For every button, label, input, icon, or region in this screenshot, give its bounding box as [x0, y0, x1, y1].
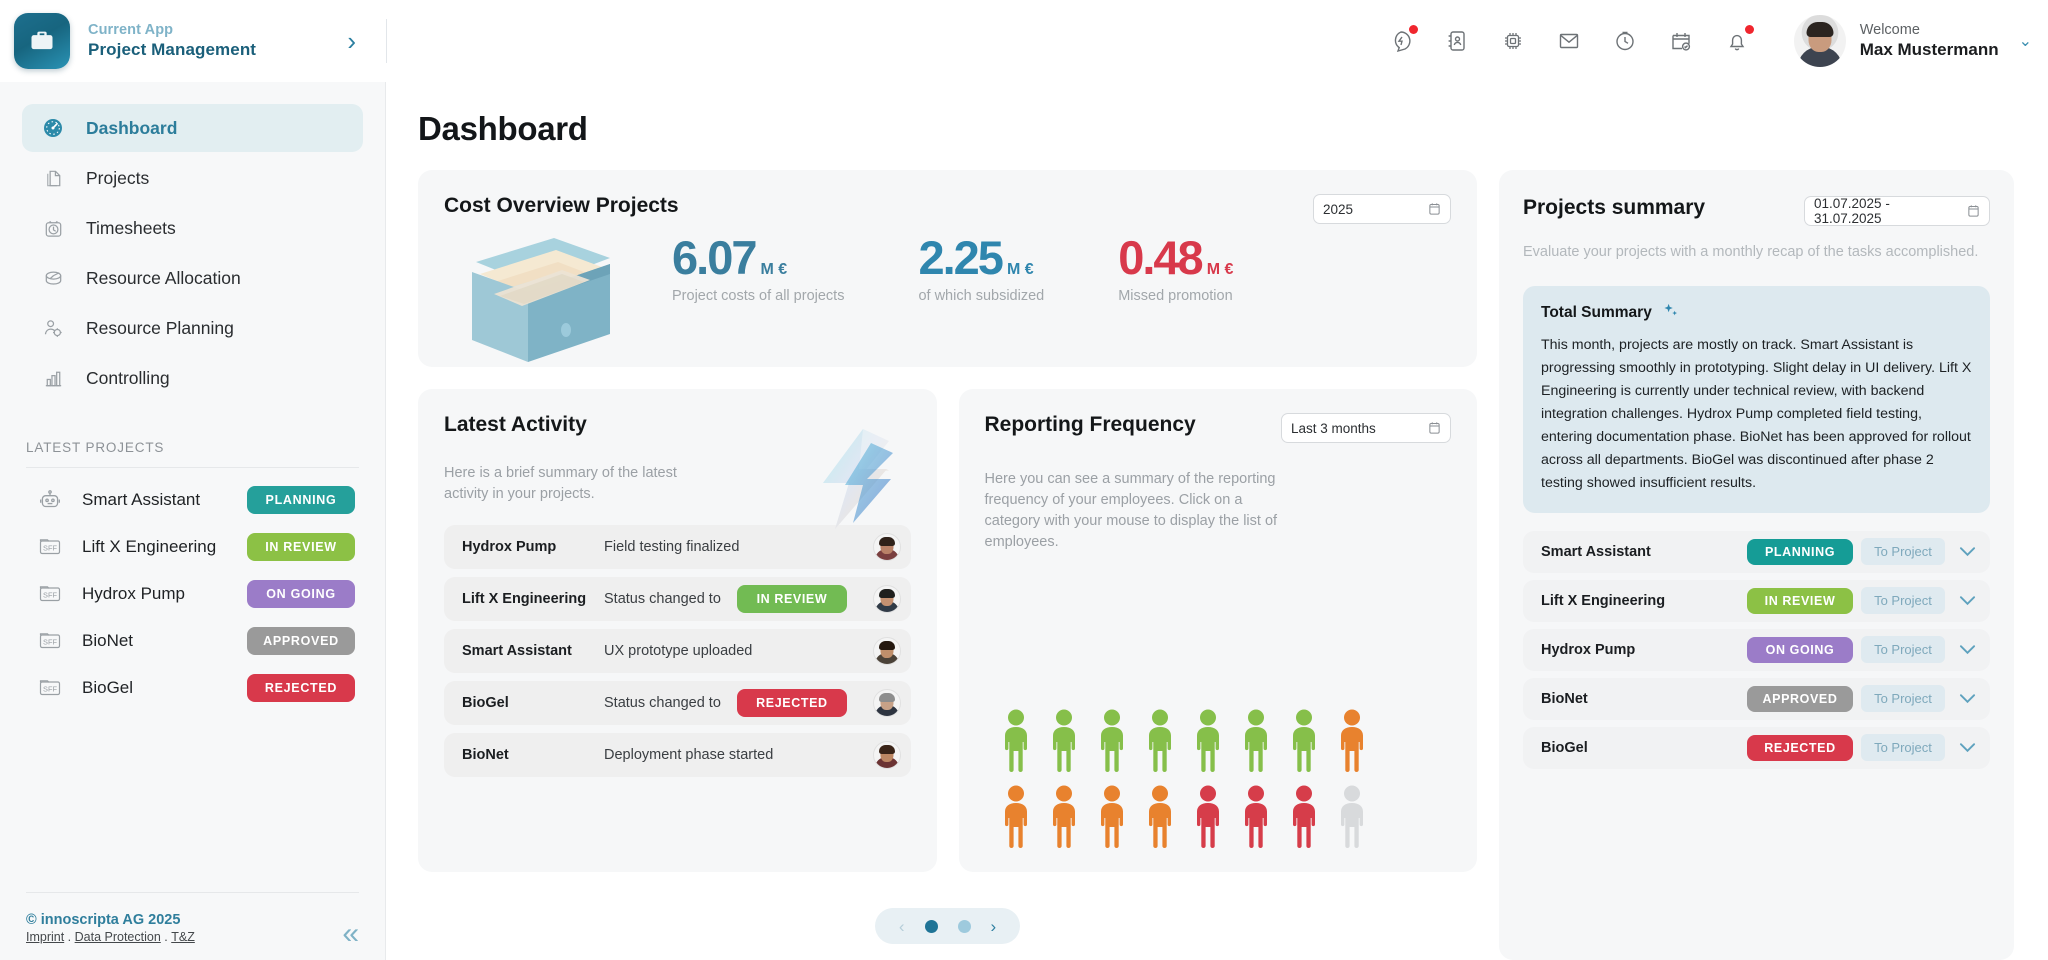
- activity-project: BioNet: [462, 747, 604, 763]
- activity-project: Smart Assistant: [462, 643, 604, 659]
- person-icon: [1237, 708, 1275, 774]
- timer-icon: [40, 215, 66, 241]
- activity-bolt-icon[interactable]: [1386, 26, 1416, 56]
- next-page-button[interactable]: ›: [991, 918, 997, 935]
- project-name: Lift X Engineering: [1541, 593, 1747, 609]
- sidebar-item-label: Projects: [86, 168, 149, 189]
- to-project-button[interactable]: To Project: [1861, 685, 1945, 712]
- stat-unit: M €: [1207, 262, 1234, 277]
- project-name: Smart Assistant: [1541, 544, 1747, 560]
- activity-list: Hydrox Pump Field testing finalized Lift…: [444, 525, 911, 777]
- status-badge: REJECTED: [737, 689, 847, 717]
- sidebar-item-label: Controlling: [86, 368, 170, 389]
- reporting-frequency-title: Reporting Frequency: [985, 413, 1196, 437]
- chevron-down-icon[interactable]: [1959, 595, 1976, 606]
- status-badge: APPROVED: [247, 627, 355, 655]
- cost-stats: 6.07 M € Project costs of all projects 2…: [672, 236, 1451, 304]
- chevron-down-icon[interactable]: [1959, 644, 1976, 655]
- table-row[interactable]: Hydrox Pump ON GOING To Project: [1523, 629, 1990, 671]
- stat-value: 2.25: [918, 236, 1001, 281]
- person-gear-icon: [40, 315, 66, 341]
- latest-activity-card: Latest Activity Here is a brief summary …: [418, 389, 937, 872]
- stat-value: 6.07: [672, 236, 755, 281]
- person-icon: [1285, 784, 1323, 850]
- projects-summary-title: Projects summary: [1523, 196, 1705, 220]
- page-dot-2[interactable]: [958, 920, 971, 933]
- person-icon: [1333, 708, 1371, 774]
- data-protection-link[interactable]: Data Protection: [75, 930, 161, 944]
- person-icon: [1045, 784, 1083, 850]
- robot-icon: [36, 486, 64, 514]
- cost-overview-card: Cost Overview Projects 2025: [418, 170, 1477, 367]
- sidebar-item-timesheets[interactable]: Timesheets: [22, 204, 363, 252]
- main-content: Dashboard Cost Overview Projects 2025: [386, 82, 2048, 960]
- bar-chart-icon: [40, 365, 66, 391]
- notification-dot: [1409, 25, 1418, 34]
- user-menu[interactable]: Welcome Max Mustermann ⌄: [1794, 15, 2032, 67]
- table-row[interactable]: BioGel REJECTED To Project: [1523, 727, 1990, 769]
- sidebar-item-label: Resource Planning: [86, 318, 234, 339]
- projects-summary-subtitle: Evaluate your projects with a monthly re…: [1523, 242, 1990, 264]
- page-dot-1[interactable]: [925, 920, 938, 933]
- total-summary-text: This month, projects are mostly on track…: [1541, 334, 1972, 495]
- avatar: [873, 637, 901, 665]
- status-badge: IN REVIEW: [247, 533, 355, 561]
- folder-illustration: [458, 222, 626, 362]
- stat-subsidized: 2.25 M € of which subsidized: [918, 236, 1044, 304]
- status-badge: REJECTED: [1747, 735, 1853, 761]
- chip-icon[interactable]: [1498, 26, 1528, 56]
- briefcase-icon: [14, 13, 70, 69]
- table-row[interactable]: Lift X Engineering Status changed to IN …: [444, 577, 911, 621]
- stat-value: 0.48: [1118, 236, 1201, 281]
- notification-bell-icon[interactable]: [1722, 26, 1752, 56]
- list-item-label: Hydrox Pump: [82, 584, 185, 604]
- sidebar-item-label: Timesheets: [86, 218, 176, 239]
- stat-total-costs: 6.07 M € Project costs of all projects: [672, 236, 844, 304]
- status-badge: IN REVIEW: [1747, 588, 1853, 614]
- activity-project: Lift X Engineering: [462, 591, 604, 607]
- sidebar-item-controlling[interactable]: Controlling: [22, 354, 363, 402]
- app-switcher-chevron-icon[interactable]: ›: [347, 28, 356, 54]
- activity-desc: Field testing finalized: [604, 539, 873, 555]
- svg-text:SFF: SFF: [43, 684, 57, 693]
- table-row[interactable]: Smart Assistant UX prototype uploaded: [444, 629, 911, 673]
- table-row[interactable]: BioGel Status changed to REJECTED: [444, 681, 911, 725]
- sidebar-nav: Dashboard Projects Timesheets: [0, 82, 385, 404]
- table-row[interactable]: Hydrox Pump Field testing finalized: [444, 525, 911, 569]
- pictogram-row-2: [997, 784, 1452, 850]
- topbar-divider: [386, 19, 387, 63]
- status-badge: PLANNING: [1747, 539, 1853, 565]
- pagination: ‹ ›: [418, 894, 1477, 960]
- person-icon: [1141, 708, 1179, 774]
- total-summary-box: Total Summary This month, projects are m…: [1523, 286, 1990, 513]
- to-project-button[interactable]: To Project: [1861, 734, 1945, 761]
- to-project-button[interactable]: To Project: [1861, 636, 1945, 663]
- person-icon: [1189, 708, 1227, 774]
- person-icon: [997, 784, 1035, 850]
- footer-links[interactable]: Imprint . Data Protection . T&Z: [26, 930, 195, 944]
- prev-page-button[interactable]: ‹: [899, 918, 905, 935]
- person-icon: [997, 708, 1035, 774]
- copyright-label: © innoscripta AG 2025: [26, 911, 195, 929]
- table-row[interactable]: Lift X Engineering IN REVIEW To Project: [1523, 580, 1990, 622]
- status-badge: APPROVED: [1747, 686, 1853, 712]
- sidebar-footer: © innoscripta AG 2025 Imprint . Data Pro…: [0, 892, 385, 960]
- avatar: [873, 689, 901, 717]
- collapse-sidebar-icon[interactable]: «: [342, 923, 359, 944]
- sidebar-item-projects[interactable]: Projects: [22, 154, 363, 202]
- sidebar-item-dashboard[interactable]: Dashboard: [22, 104, 363, 152]
- calendar-check-icon[interactable]: [1666, 26, 1696, 56]
- sidebar-item-resource-planning[interactable]: Resource Planning: [22, 304, 363, 352]
- avatar: [873, 741, 901, 769]
- divider: [26, 892, 359, 893]
- sidebar: Dashboard Projects Timesheets: [0, 82, 386, 960]
- lightning-bolt-icon: [801, 427, 909, 531]
- svg-text:SFF: SFF: [43, 543, 57, 552]
- avatar: [873, 533, 901, 561]
- list-item-label: Smart Assistant: [82, 490, 200, 510]
- current-app-name: Project Management: [88, 39, 256, 60]
- activity-desc: Status changed to: [604, 695, 721, 711]
- imprint-link[interactable]: Imprint: [26, 930, 64, 944]
- user-name: Max Mustermann: [1860, 39, 1999, 61]
- calendar-icon: [1428, 202, 1441, 216]
- list-item[interactable]: Smart Assistant PLANNING: [22, 476, 363, 523]
- chevron-down-icon[interactable]: ⌄: [2019, 31, 2032, 51]
- to-project-button[interactable]: To Project: [1861, 587, 1945, 614]
- activity-project: BioGel: [462, 695, 604, 711]
- avatar: [1794, 15, 1846, 67]
- sidebar-item-label: Resource Allocation: [86, 268, 241, 289]
- page-title: Dashboard: [418, 110, 2014, 148]
- project-name: BioGel: [1541, 740, 1747, 756]
- date-range-selector[interactable]: 01.07.2025 - 31.07.2025: [1804, 196, 1990, 226]
- list-item[interactable]: SFF BioGel REJECTED: [22, 664, 363, 711]
- welcome-label: Welcome: [1860, 21, 1999, 40]
- project-name: BioNet: [1541, 691, 1747, 707]
- to-project-button[interactable]: To Project: [1861, 538, 1945, 565]
- table-row[interactable]: BioNet APPROVED To Project: [1523, 678, 1990, 720]
- reporting-frequency-card: Reporting Frequency Last 3 months Here y…: [959, 389, 1478, 872]
- top-bar: Current App Project Management ›: [0, 0, 2048, 82]
- status-badge: ON GOING: [247, 580, 355, 608]
- person-icon: [1045, 708, 1083, 774]
- chevron-down-icon[interactable]: [1959, 693, 1976, 704]
- person-icon: [1093, 708, 1131, 774]
- time-tracking-icon[interactable]: [1610, 26, 1640, 56]
- date-range-value: 01.07.2025 - 31.07.2025: [1814, 196, 1959, 226]
- status-badge: REJECTED: [247, 674, 355, 702]
- svg-text:SFF: SFF: [43, 590, 57, 599]
- svg-text:SFF: SFF: [43, 637, 57, 646]
- activity-desc: Deployment phase started: [604, 747, 873, 763]
- period-selector[interactable]: Last 3 months: [1281, 413, 1451, 443]
- status-badge: IN REVIEW: [737, 585, 847, 613]
- sff-folder-icon: SFF: [36, 627, 64, 655]
- projects-summary-list: Smart Assistant PLANNING To Project Lift…: [1523, 531, 1990, 769]
- terms-link[interactable]: T&Z: [171, 930, 195, 944]
- person-icon: [1333, 784, 1371, 850]
- speedometer-icon: [40, 115, 66, 141]
- documents-icon: [40, 165, 66, 191]
- table-row[interactable]: BioNet Deployment phase started: [444, 733, 911, 777]
- latest-projects-header: LATEST PROJECTS: [26, 440, 359, 468]
- table-row[interactable]: Smart Assistant PLANNING To Project: [1523, 531, 1990, 573]
- stat-label: Missed promotion: [1118, 288, 1233, 304]
- person-icon: [1141, 784, 1179, 850]
- sff-folder-icon: SFF: [36, 533, 64, 561]
- mail-icon[interactable]: [1554, 26, 1584, 56]
- latest-activity-subtitle: Here is a brief summary of the latest ac…: [444, 463, 684, 505]
- activity-desc: UX prototype uploaded: [604, 643, 873, 659]
- sidebar-item-resource-allocation[interactable]: Resource Allocation: [22, 254, 363, 302]
- list-item[interactable]: SFF BioNet APPROVED: [22, 617, 363, 664]
- ai-sparkle-icon: [1662, 302, 1679, 324]
- stat-missed-promotion: 0.48 M € Missed promotion: [1118, 236, 1233, 304]
- stat-unit: M €: [1007, 262, 1034, 277]
- list-item[interactable]: SFF Hydrox Pump ON GOING: [22, 570, 363, 617]
- calendar-icon: [1428, 421, 1441, 435]
- pie-cylinder-icon: [40, 265, 66, 291]
- contacts-book-icon[interactable]: [1442, 26, 1472, 56]
- list-item[interactable]: SFF Lift X Engineering IN REVIEW: [22, 523, 363, 570]
- sff-folder-icon: SFF: [36, 674, 64, 702]
- status-badge: ON GOING: [1747, 637, 1853, 663]
- stat-unit: M €: [760, 262, 787, 277]
- chevron-down-icon[interactable]: [1959, 742, 1976, 753]
- person-icon: [1285, 708, 1323, 774]
- current-app-label: Current App: [88, 21, 256, 39]
- sff-folder-icon: SFF: [36, 580, 64, 608]
- year-selector[interactable]: 2025: [1313, 194, 1451, 224]
- sidebar-item-label: Dashboard: [86, 118, 177, 139]
- stat-label: Project costs of all projects: [672, 288, 844, 304]
- latest-projects-list: Smart Assistant PLANNING SFF Lift X Engi…: [0, 468, 385, 711]
- topbar-actions: Welcome Max Mustermann ⌄: [1386, 0, 2048, 82]
- list-item-label: BioGel: [82, 678, 133, 698]
- app-switcher[interactable]: Current App Project Management ›: [0, 0, 386, 82]
- list-item-label: Lift X Engineering: [82, 537, 216, 557]
- activity-desc: Status changed to: [604, 591, 721, 607]
- cost-overview-title: Cost Overview Projects: [444, 194, 679, 218]
- total-summary-label: Total Summary: [1541, 304, 1652, 322]
- project-name: Hydrox Pump: [1541, 642, 1747, 658]
- year-value: 2025: [1323, 202, 1353, 217]
- avatar: [873, 585, 901, 613]
- period-value: Last 3 months: [1291, 421, 1376, 436]
- projects-summary-card: Projects summary 01.07.2025 - 31.07.2025…: [1499, 170, 2014, 960]
- status-badge: PLANNING: [247, 486, 355, 514]
- list-item-label: BioNet: [82, 631, 133, 651]
- person-icon: [1093, 784, 1131, 850]
- stat-label: of which subsidized: [918, 288, 1044, 304]
- pictogram-row-1: [997, 708, 1452, 774]
- person-icon: [1189, 784, 1227, 850]
- chevron-down-icon[interactable]: [1959, 546, 1976, 557]
- notification-dot: [1745, 25, 1754, 34]
- calendar-icon: [1967, 204, 1980, 218]
- person-icon: [1237, 784, 1275, 850]
- reporting-frequency-subtitle: Here you can see a summary of the report…: [985, 469, 1285, 553]
- activity-project: Hydrox Pump: [462, 539, 604, 555]
- reporting-frequency-pictogram[interactable]: [985, 708, 1452, 850]
